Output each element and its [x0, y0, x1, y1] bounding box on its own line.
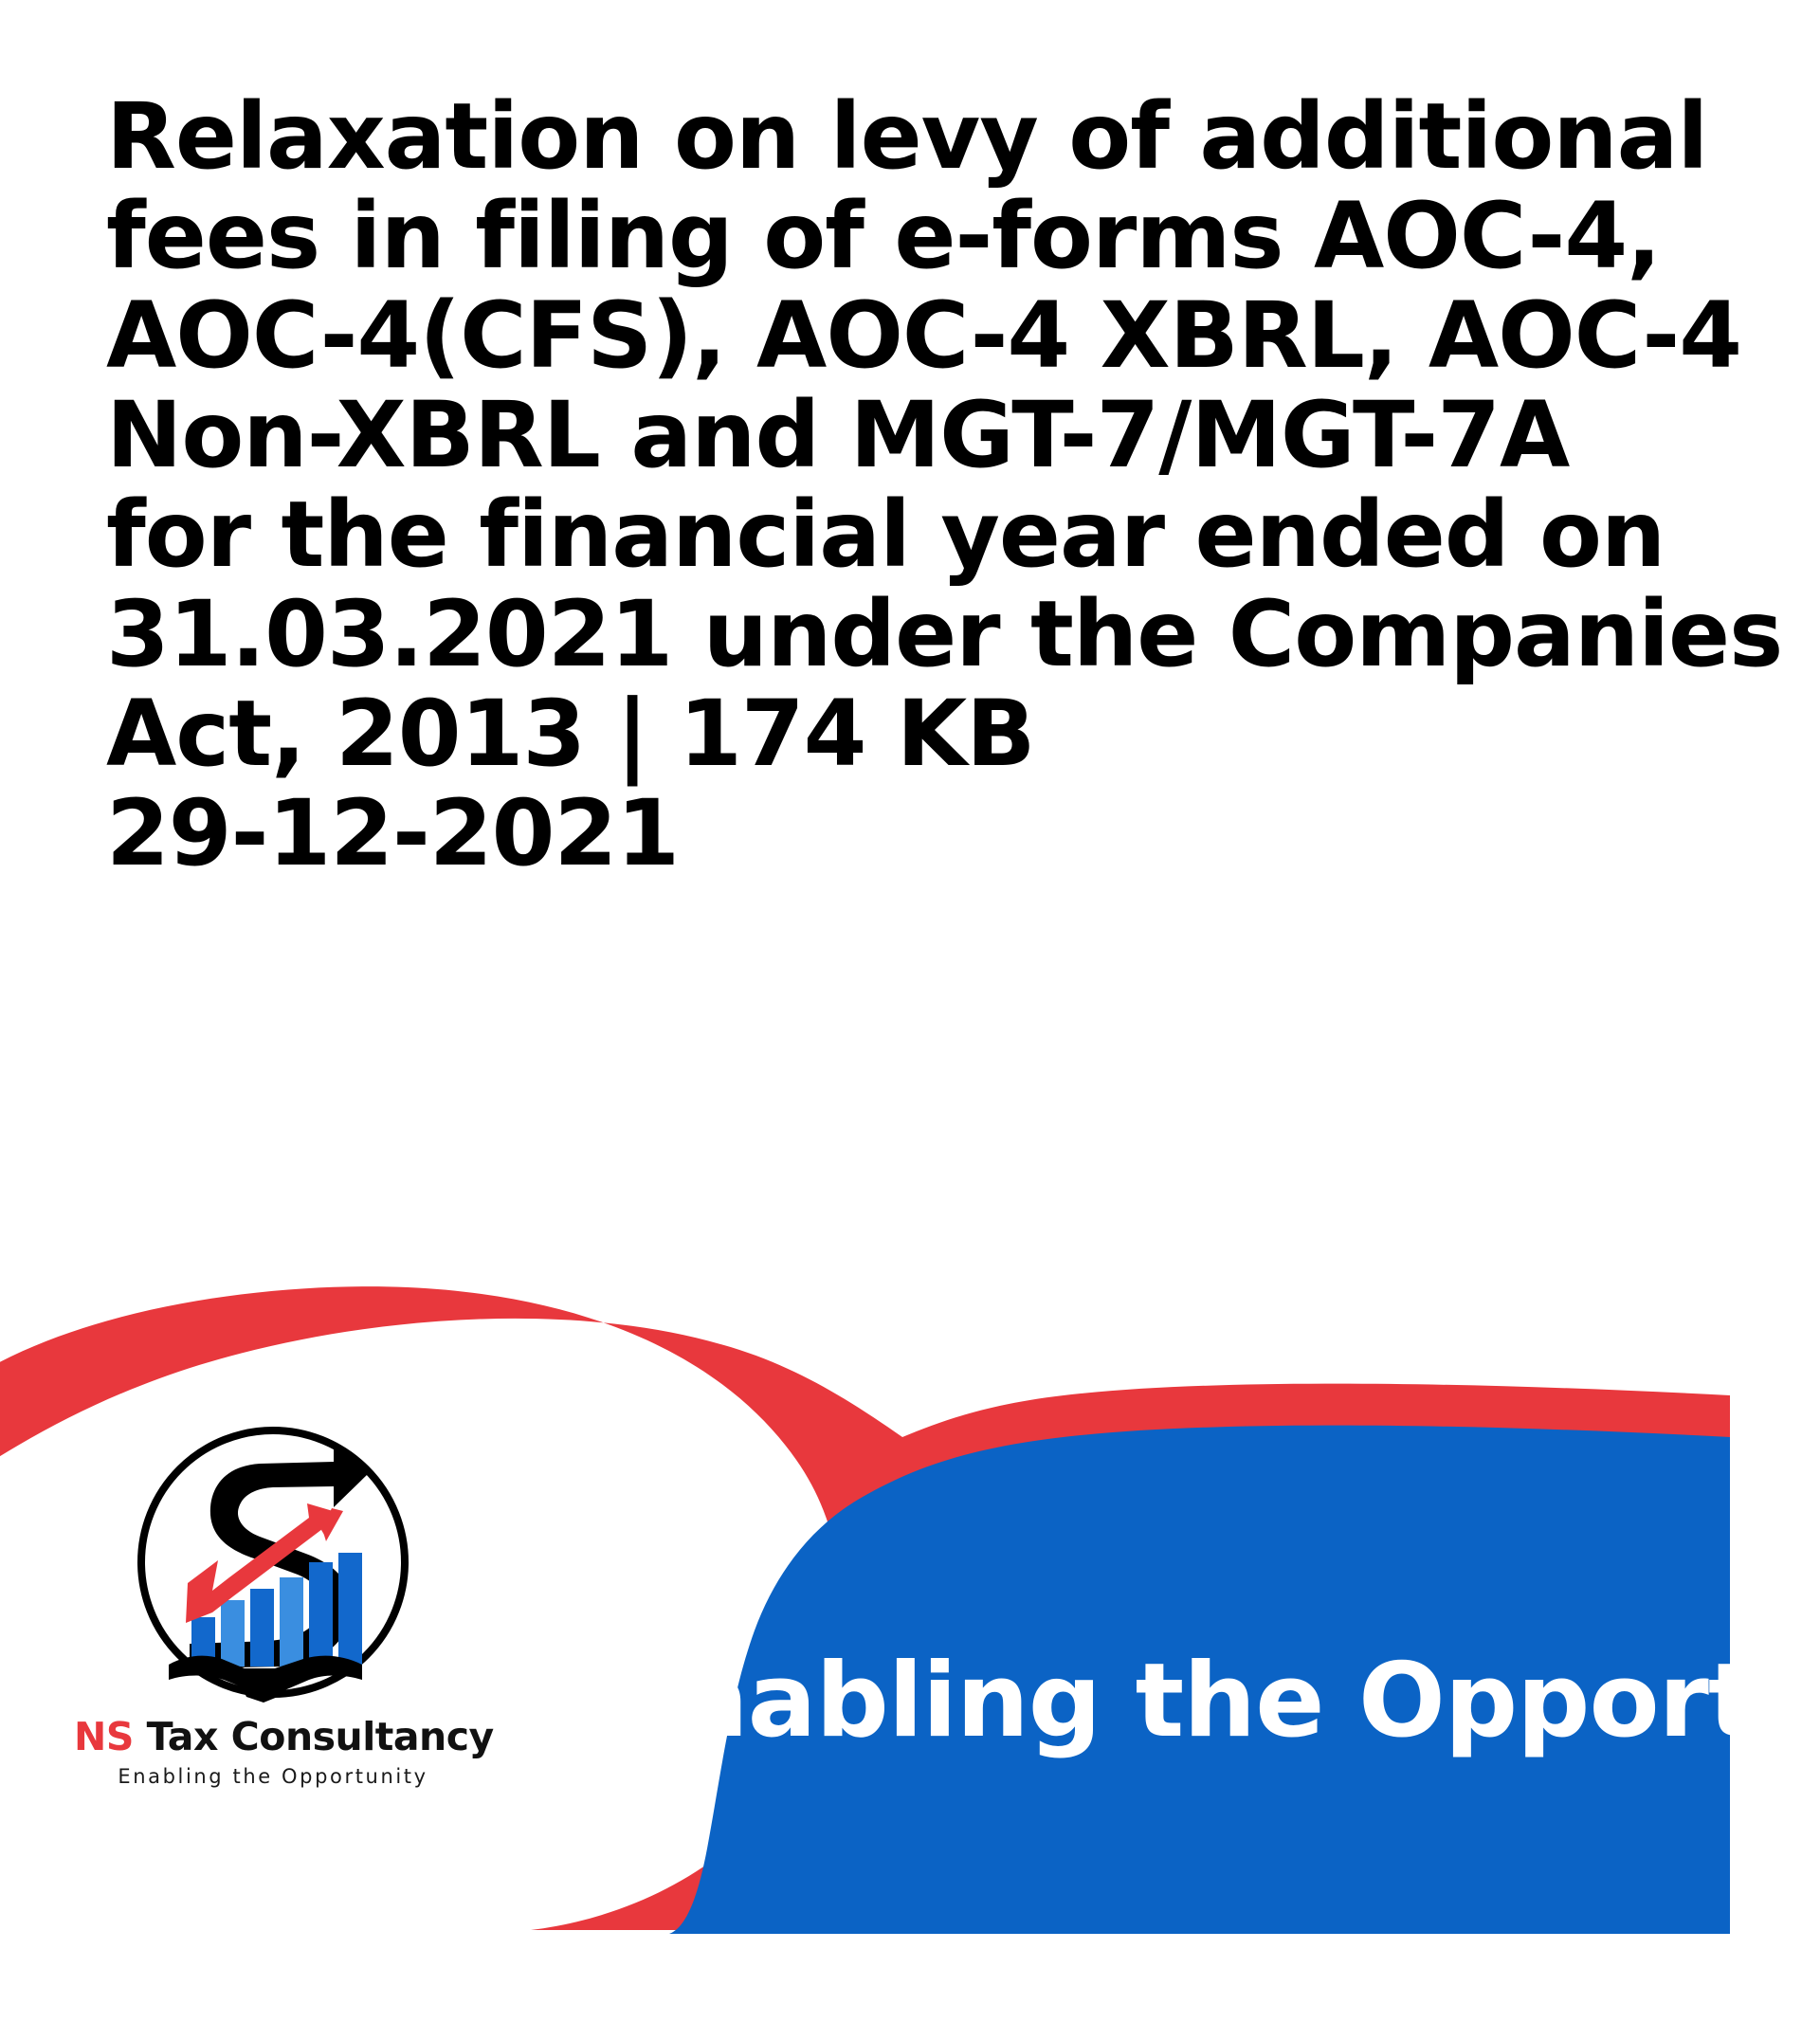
- headline-line: Non-XBRL and MGT-7/MGT-7A: [106, 386, 1718, 485]
- brand-wordmark-accent: NS: [74, 1714, 134, 1759]
- headline-line: fees in filing of e-forms AOC-4,: [106, 187, 1718, 286]
- headline-line: Relaxation on levy of additional: [106, 87, 1718, 187]
- brand-wordmark-rest: Tax Consultancy: [134, 1714, 494, 1759]
- headline-block: Relaxation on levy of additional fees in…: [106, 87, 1718, 883]
- headline-line: AOC-4(CFS), AOC-4 XBRL, AOC-4: [106, 286, 1718, 386]
- headline-line: 31.03.2021 under the Companies: [106, 585, 1718, 684]
- headline-line-date: 29-12-2021: [106, 784, 1718, 883]
- banner-slogan: Enabling the Opportunit: [607, 1649, 1820, 1754]
- brand-wordmark: NS Tax Consultancy: [74, 1714, 472, 1759]
- brand-tagline: Enabling the Opportunity: [74, 1765, 472, 1788]
- headline-line: for the financial year ended on: [106, 485, 1718, 585]
- logo-mark: [131, 1420, 415, 1704]
- headline-line-filesize: Act, 2013 | 174 KB: [106, 684, 1718, 784]
- brand-logo-group: NS Tax Consultancy Enabling the Opportun…: [74, 1420, 472, 1788]
